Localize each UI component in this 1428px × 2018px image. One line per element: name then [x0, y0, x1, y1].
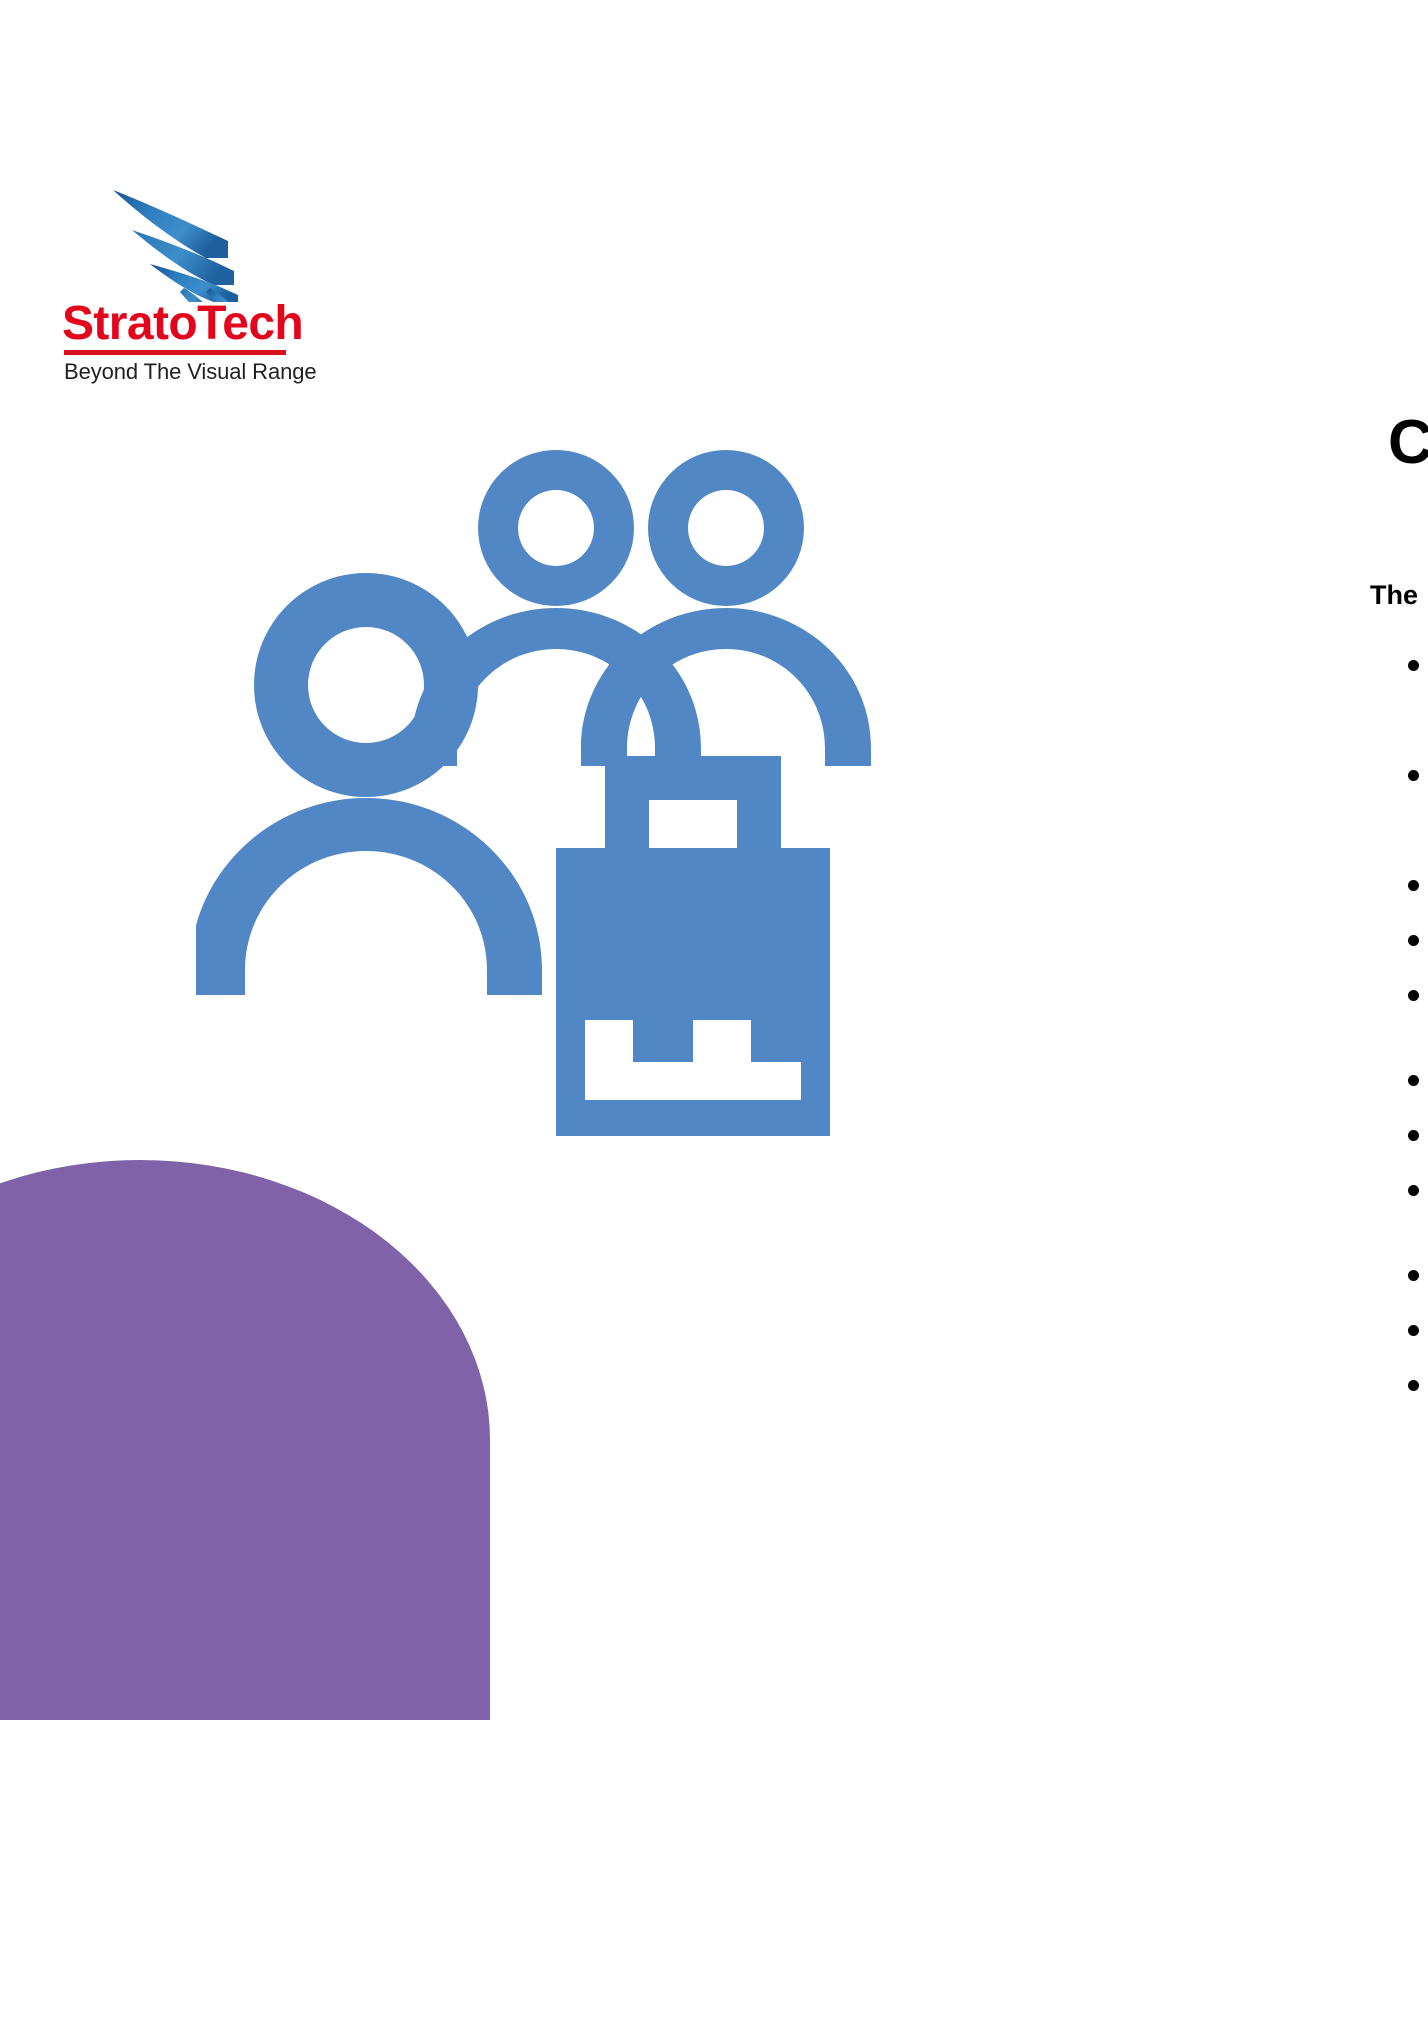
brand-wordmark: StratoTech	[62, 300, 362, 348]
bullet-point-icon	[1408, 660, 1419, 671]
bullet-point-icon	[1408, 1270, 1419, 1281]
page-title: C	[1388, 412, 1428, 474]
brand-tagline: Beyond The Visual Range	[64, 358, 364, 386]
bullet-point-icon	[1408, 1380, 1419, 1391]
bullet-point-icon	[1408, 990, 1419, 1001]
bullet-point-icon	[1408, 1130, 1419, 1141]
wing-logo-icon	[110, 182, 242, 302]
section-subheading: The	[1370, 582, 1418, 609]
brand-underline-rule	[64, 350, 286, 355]
purple-semicircle-decoration	[0, 1160, 490, 1720]
bullet-point-icon	[1408, 1325, 1419, 1336]
bullet-point-icon	[1408, 770, 1419, 781]
bullet-point-icon	[1408, 880, 1419, 891]
bullet-point-icon	[1408, 1075, 1419, 1086]
people-with-briefcase-icon	[196, 440, 940, 1144]
document-page: StratoTech Beyond The Visual Range	[0, 0, 1428, 2018]
bullet-point-icon	[1408, 1185, 1419, 1196]
bullet-point-icon	[1408, 935, 1419, 946]
brand-logo: StratoTech Beyond The Visual Range	[62, 182, 362, 472]
